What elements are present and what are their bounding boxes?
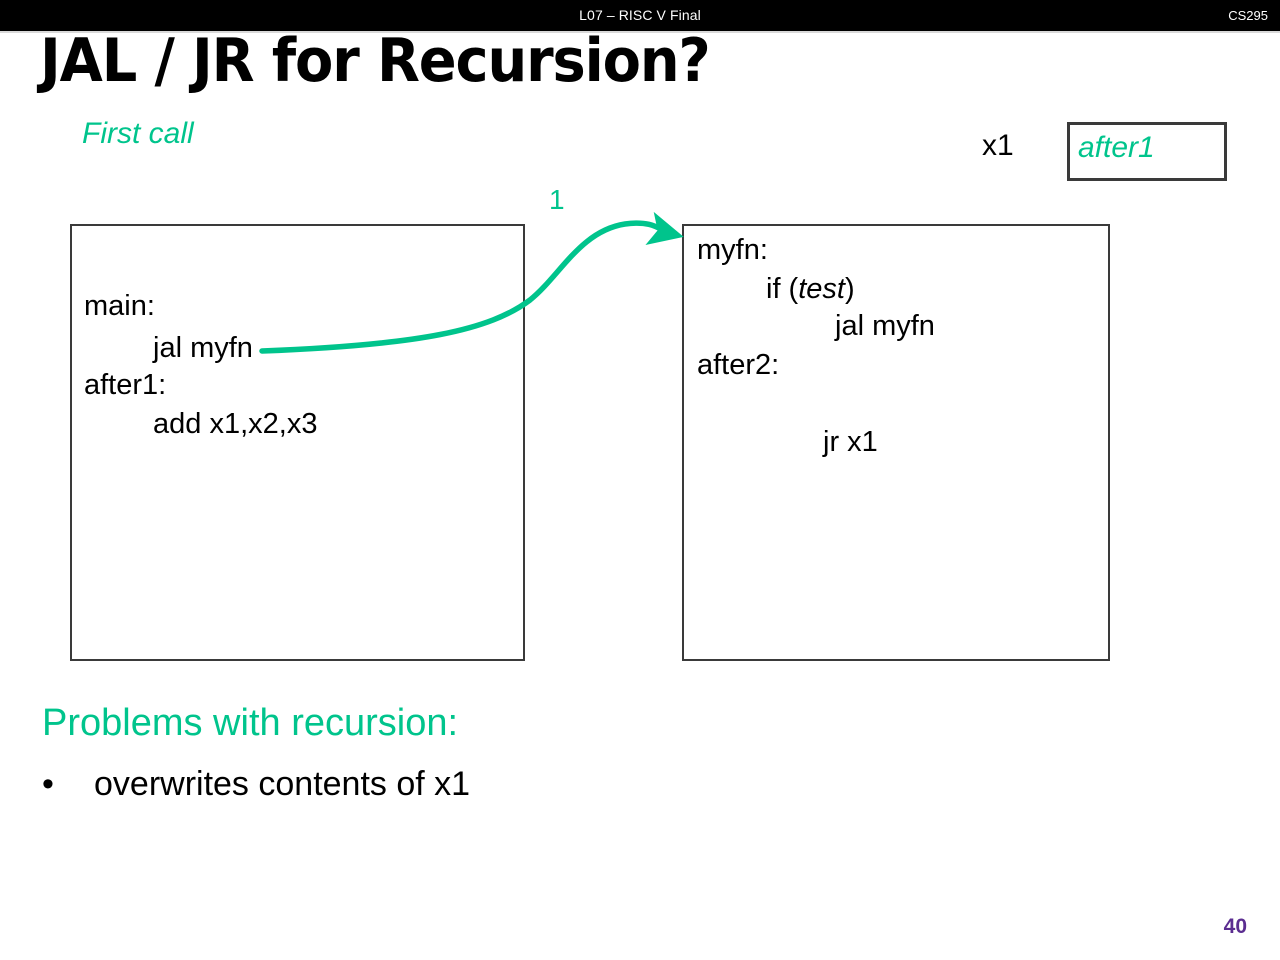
page-title: JAL / JR for Recursion?: [40, 26, 710, 96]
code-line-after1-label: after1:: [84, 371, 166, 400]
list-item: • overwrites contents of x1: [42, 767, 470, 801]
register-name-label: x1: [982, 129, 1014, 163]
header-course-code: CS295: [1228, 0, 1268, 31]
code-line-after2-label: after2:: [697, 351, 779, 380]
arrow-step-number: 1: [549, 184, 565, 216]
code-line-jal-myfn: jal myfn: [153, 334, 253, 363]
code-line-recursive-jal: jal myfn: [835, 312, 935, 341]
first-call-label: First call: [82, 117, 194, 151]
page-number: 40: [1224, 915, 1247, 939]
code-line-jr-return: jr x1: [823, 428, 878, 457]
bullet-marker-icon: •: [42, 767, 94, 801]
if-close-paren: ): [845, 273, 855, 305]
notes-heading: Problems with recursion:: [42, 702, 458, 745]
code-line-main-label: main:: [84, 292, 155, 321]
if-keyword: if (: [766, 273, 798, 305]
test-condition: test: [798, 273, 845, 305]
bullet-item-text: overwrites contents of x1: [94, 767, 470, 801]
myfn-code-box: [682, 224, 1110, 661]
code-line-if-test: if (test): [766, 275, 855, 304]
code-line-myfn-label: myfn:: [697, 236, 768, 265]
code-line-add-instruction: add x1,x2,x3: [153, 410, 317, 439]
register-value-text: after1: [1078, 131, 1155, 165]
